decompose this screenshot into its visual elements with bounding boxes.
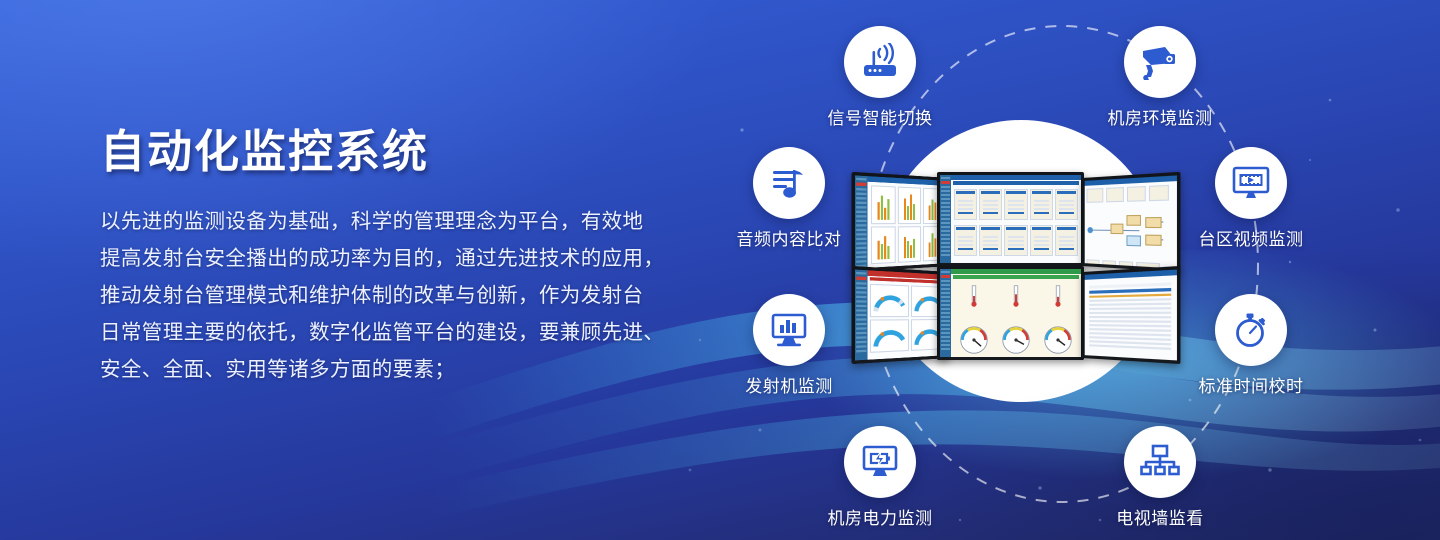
screen-dial-gauges xyxy=(852,266,950,364)
feature-bubble[interactable] xyxy=(1215,294,1287,366)
feature-bubble[interactable] xyxy=(844,26,916,98)
feature-bubble[interactable] xyxy=(1215,147,1287,219)
feature-time-sync[interactable]: 标准时间校时 xyxy=(1215,294,1287,366)
feature-label: 电视墙监看 xyxy=(1116,504,1204,529)
paragraph-line-2: 提高发射台安全播出的成功率为目的，通过先进技术的应用， xyxy=(100,240,710,277)
feature-bubble[interactable] xyxy=(753,147,825,219)
page-title: 自动化监控系统 xyxy=(100,127,710,177)
stopwatch-icon xyxy=(1232,311,1270,349)
feature-label: 标准时间校时 xyxy=(1199,372,1304,397)
router-wifi-icon xyxy=(860,43,900,81)
audio-note-icon xyxy=(770,164,808,202)
video-wall xyxy=(854,172,1179,360)
network-tree-icon xyxy=(1140,444,1180,480)
feature-tv-wall[interactable]: 电视墙监看 xyxy=(1124,426,1196,498)
feature-bubble[interactable] xyxy=(1124,426,1196,498)
feature-label: 机房电力监测 xyxy=(828,504,933,529)
screen-flowchart xyxy=(1082,172,1180,272)
screen-data-cards xyxy=(937,172,1084,266)
feature-bubble[interactable] xyxy=(753,294,825,366)
hero-paragraph: 以先进的监测设备为基础，科学的管理理念为平台，有效地 提高发射台安全播出的成功率… xyxy=(100,203,710,388)
paragraph-line-4: 日常管理主要的依托，数字化监管平台的建设，要兼顾先进、 xyxy=(100,314,710,351)
feature-label: 机房环境监测 xyxy=(1108,104,1213,129)
feature-room-power[interactable]: 机房电力监测 xyxy=(844,426,916,498)
feature-area-video[interactable]: 台区视频监测 xyxy=(1215,147,1287,219)
screen-bar-charts xyxy=(852,172,950,272)
feature-bubble[interactable] xyxy=(844,426,916,498)
screen-table xyxy=(1082,266,1180,364)
security-camera-icon xyxy=(1139,43,1181,81)
paragraph-line-1: 以先进的监测设备为基础，科学的管理理念为平台，有效地 xyxy=(100,203,710,240)
feature-bubble[interactable] xyxy=(1124,26,1196,98)
feature-room-environment[interactable]: 机房环境监测 xyxy=(1124,26,1196,98)
feature-label: 发射机监测 xyxy=(745,372,833,397)
bar-chart-monitor-icon xyxy=(769,311,809,349)
feature-signal-switch[interactable]: 信号智能切换 xyxy=(844,26,916,98)
feature-label: 音频内容比对 xyxy=(737,225,842,250)
power-monitor-icon xyxy=(860,443,900,481)
video-monitor-icon xyxy=(1231,164,1271,202)
hero-banner: 自动化监控系统 以先进的监测设备为基础，科学的管理理念为平台，有效地 提高发射台… xyxy=(0,0,1440,540)
feature-audio-compare[interactable]: 音频内容比对 xyxy=(753,147,825,219)
hero-copy: 自动化监控系统 以先进的监测设备为基础，科学的管理理念为平台，有效地 提高发射台… xyxy=(100,127,710,388)
feature-label: 信号智能切换 xyxy=(828,104,933,129)
feature-transmitter[interactable]: 发射机监测 xyxy=(753,294,825,366)
screen-meters xyxy=(937,266,1084,360)
paragraph-line-5: 安全、全面、实用等诸多方面的要素； xyxy=(100,351,710,388)
paragraph-line-3: 推动发射台管理模式和维护体制的改革与创新，作为发射台 xyxy=(100,277,710,314)
feature-label: 台区视频监测 xyxy=(1199,225,1304,250)
